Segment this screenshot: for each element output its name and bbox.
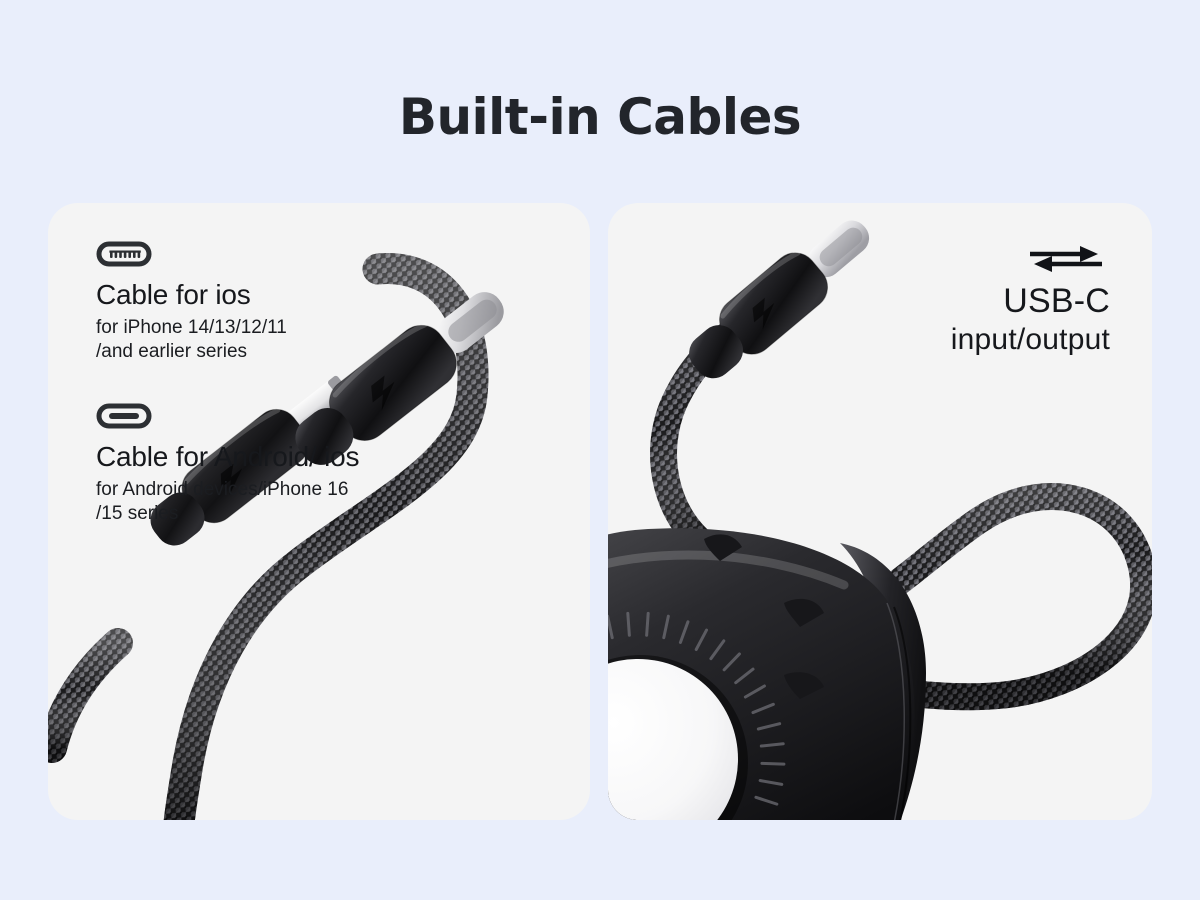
spec-title: Cable for ios [96, 279, 287, 311]
product-feature-page: Built-in Cables [0, 0, 1200, 900]
usb-c-connector-icon [96, 403, 152, 429]
usb-c-io-label: USB-C input/output [951, 245, 1110, 357]
card-built-in-cables: Cable for ios for iPhone 14/13/12/11 /an… [48, 203, 590, 820]
usb-c-plug [677, 204, 884, 391]
spec-subtitle: for Android devices/iPhone 16 /15 series [96, 478, 359, 527]
power-bank-device [608, 528, 926, 820]
spec-title: Cable for Android/ ios [96, 441, 359, 473]
lightning-connector-icon [96, 241, 152, 267]
card-usb-c-input-output: USB-C input/output [608, 203, 1152, 820]
io-title: USB-C [951, 282, 1110, 321]
radial-tick-ring [608, 613, 784, 804]
bidirectional-arrow-icon [1030, 245, 1104, 273]
spec-cable-for-android-ios: Cable for Android/ ios for Android devic… [96, 403, 359, 527]
page-title: Built-in Cables [0, 88, 1200, 146]
spec-cable-for-ios: Cable for ios for iPhone 14/13/12/11 /an… [96, 241, 287, 365]
spec-subtitle: for iPhone 14/13/12/11 /and earlier seri… [96, 316, 287, 365]
io-subtitle: input/output [951, 323, 1110, 357]
